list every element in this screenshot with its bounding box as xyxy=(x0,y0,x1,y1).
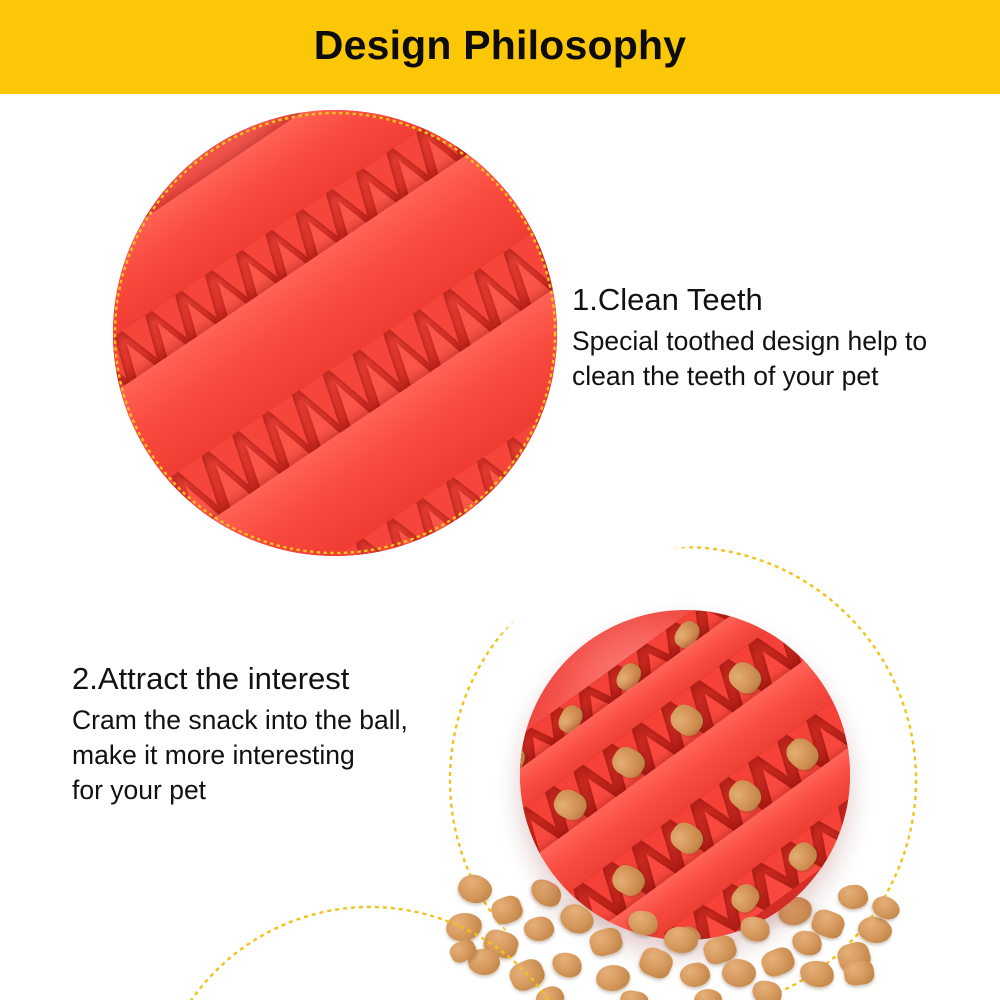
feature-2-body-line-3: for your pet xyxy=(72,773,492,808)
feature-1-body-line-2: clean the teeth of your pet xyxy=(572,359,992,394)
feature-block-clean-teeth: 1.Clean Teeth Special toothed design hel… xyxy=(572,283,992,394)
feature-2-body-line-1: Cram the snack into the ball, xyxy=(72,703,492,738)
header-banner: Design Philosophy xyxy=(0,0,1000,94)
kibble-piece xyxy=(842,959,875,987)
feature-2-body-line-2: make it more interesting xyxy=(72,738,492,773)
feature-2-title: 2.Attract the interest xyxy=(72,662,492,696)
feature-1-body-line-1: Special toothed design help to xyxy=(572,324,992,359)
page-title: Design Philosophy xyxy=(314,25,686,66)
infographic-page: Design Philosophy 1.Clean Teeth Special … xyxy=(0,0,1000,1000)
feature-1-title: 1.Clean Teeth xyxy=(572,283,992,317)
feature-block-attract-interest: 2.Attract the interest Cram the snack in… xyxy=(72,662,492,808)
macro-ball-image xyxy=(113,110,557,556)
feature-2-body: Cram the snack into the ball, make it mo… xyxy=(72,703,492,808)
dashed-circle-outline-3 xyxy=(150,905,590,1000)
treat-ball xyxy=(520,610,850,940)
dashed-circle-outline-1 xyxy=(113,110,557,556)
feature-1-body: Special toothed design help to clean the… xyxy=(572,324,992,394)
